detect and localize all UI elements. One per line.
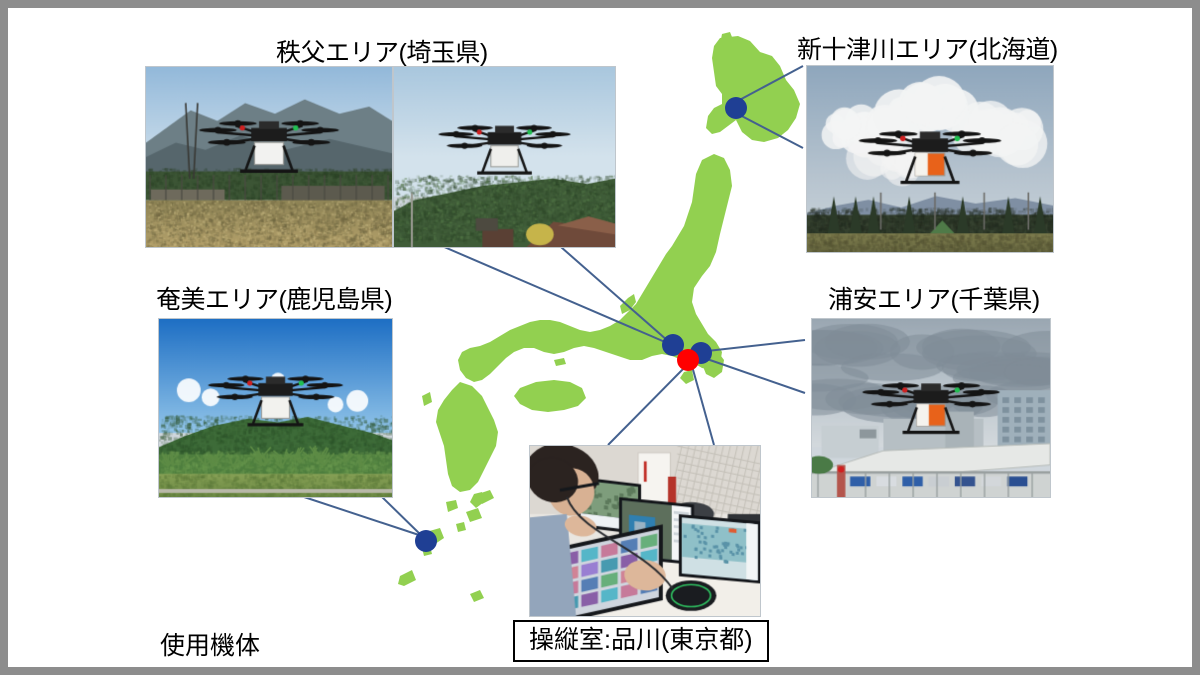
noto-peninsula — [620, 294, 636, 314]
connector-urayasu-top — [707, 340, 805, 351]
area-label-shintotsukawa: 新十津川エリア(北海道) — [797, 30, 1058, 66]
area-label-amami: 奄美エリア(鹿児島県) — [156, 280, 392, 316]
photo-chichibu-mountain-field — [145, 66, 393, 248]
marker-shinagawa — [677, 349, 699, 371]
hokkaido-cape — [720, 32, 734, 48]
sakishima-island — [470, 590, 484, 602]
control-room-box-label: 操縦室:品川(東京都) — [513, 620, 769, 662]
connector-urayasu-bottom — [707, 359, 805, 393]
amami-island — [424, 528, 444, 546]
connector-hokkaido-top — [732, 66, 803, 104]
marker-chichibu — [662, 334, 684, 356]
connector-chichibu-photo2 — [553, 240, 668, 341]
boso-peninsula — [702, 352, 724, 378]
marker-urayasu — [690, 342, 712, 364]
marker-amami — [415, 530, 437, 552]
amami-island-small — [422, 546, 432, 556]
photo-control-room — [529, 445, 761, 617]
kyushu-island — [436, 382, 498, 492]
connector-amami-bottom — [380, 495, 424, 538]
okinawa-island — [398, 570, 416, 586]
izu-nub — [680, 370, 694, 384]
kyushu-south-tip — [470, 492, 484, 508]
connector-shinagawa-left — [608, 366, 686, 445]
ryukyu-island-1 — [446, 500, 458, 512]
photo-amami-drone — [158, 318, 393, 498]
area-label-chichibu: 秩父エリア(埼玉県) — [276, 33, 488, 69]
oki-island — [554, 358, 566, 366]
shikoku-island — [514, 380, 586, 412]
photo-urayasu-drone — [811, 318, 1051, 498]
connector-chichibu-photo1 — [428, 240, 665, 342]
photo-shintotsukawa-drone — [806, 65, 1054, 253]
slide-canvas: 秩父エリア(埼玉県) 新十津川エリア(北海道) 奄美エリア(鹿児島県) 浦安エリ… — [8, 8, 1192, 667]
ryukyu-island-4 — [456, 522, 466, 532]
aircraft-caption-line1: 使用機体 — [160, 630, 457, 664]
aircraft-caption: 使用機体 プロドローン PD6B-Type3 — [160, 596, 457, 667]
photo-chichibu-forest-rooftops — [393, 66, 616, 248]
area-label-urayasu: 浦安エリア(千葉県) — [828, 280, 1040, 316]
marker-shintotsukawa — [725, 97, 747, 119]
tsushima-island — [422, 392, 432, 406]
connector-amami-top — [298, 495, 422, 536]
ryukyu-island-3 — [478, 490, 494, 504]
hokkaido-island — [706, 36, 800, 142]
connector-shinagawa-right — [692, 366, 714, 445]
connector-hokkaido-bottom — [734, 112, 803, 148]
ryukyu-island-2 — [466, 508, 482, 522]
